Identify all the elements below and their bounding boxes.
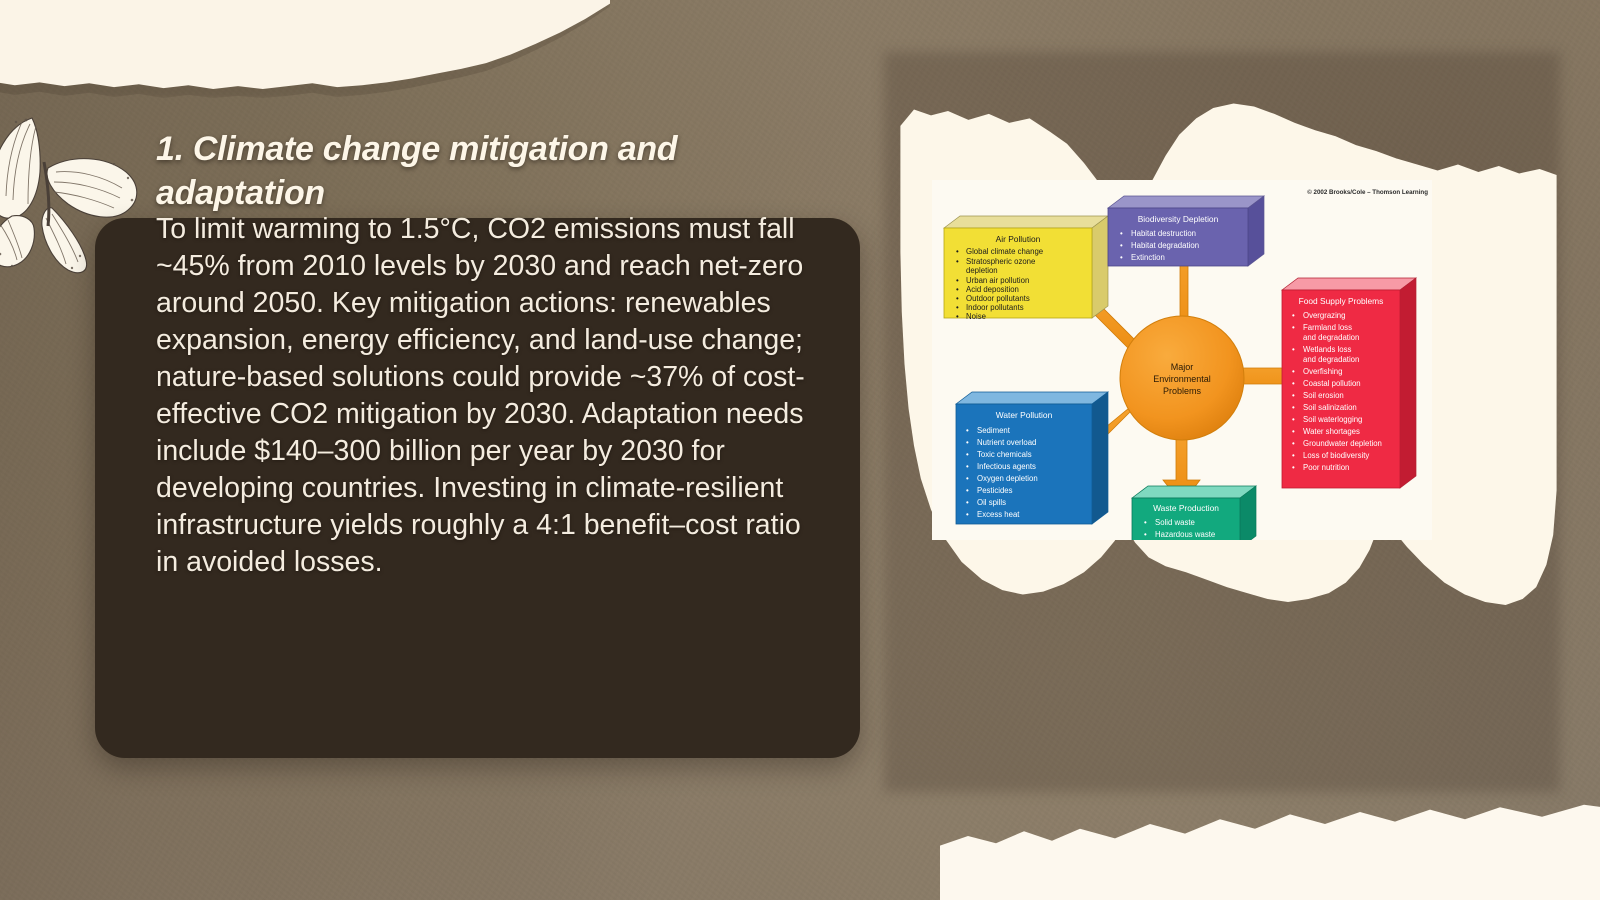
diagram-credit: © 2002 Brooks/Cole – Thomson Learning bbox=[1307, 189, 1428, 196]
water-item-0: Sediment bbox=[977, 426, 1011, 435]
svg-text:•: • bbox=[1120, 241, 1123, 250]
food-item-8: Water shortages bbox=[1303, 427, 1360, 436]
box-title-waste-production: Waste Production bbox=[1153, 503, 1219, 513]
water-item-4: Oxygen depletion bbox=[977, 474, 1038, 483]
svg-text:•: • bbox=[1120, 253, 1123, 262]
air-item-4: Outdoor pollutants bbox=[966, 294, 1030, 303]
water-item-3: Infectious agents bbox=[977, 462, 1036, 471]
svg-text:•: • bbox=[1292, 367, 1295, 376]
svg-text:•: • bbox=[1144, 518, 1147, 527]
diagram-box-biodiversity-depletion[interactable]: Biodiversity Depletion •Habitat destruct… bbox=[1108, 196, 1264, 266]
svg-text:•: • bbox=[1120, 229, 1123, 238]
svg-text:•: • bbox=[966, 426, 969, 435]
svg-text:depletion: depletion bbox=[966, 266, 998, 275]
food-item-11: Poor nutrition bbox=[1303, 463, 1349, 472]
water-item-6: Oil spills bbox=[977, 498, 1006, 507]
svg-text:•: • bbox=[956, 312, 959, 321]
center-line-0: Major bbox=[1171, 362, 1194, 372]
environmental-problems-diagram: Air Pollution •Global climate change •St… bbox=[932, 180, 1432, 540]
air-item-0: Global climate change bbox=[966, 247, 1043, 256]
svg-text:•: • bbox=[966, 510, 969, 519]
svg-text:•: • bbox=[1292, 391, 1295, 400]
svg-text:•: • bbox=[1292, 451, 1295, 460]
diagram-box-waste-production[interactable]: Waste Production •Solid waste •Hazardous… bbox=[1132, 486, 1256, 540]
svg-text:•: • bbox=[1292, 403, 1295, 412]
air-item-2: Urban air pollution bbox=[966, 276, 1029, 285]
page-title: 1. Climate change mitigation and adaptat… bbox=[156, 127, 846, 215]
svg-text:•: • bbox=[966, 450, 969, 459]
svg-text:and degradation: and degradation bbox=[1303, 355, 1359, 364]
air-item-5: Indoor pollutants bbox=[966, 303, 1024, 312]
svg-text:•: • bbox=[966, 438, 969, 447]
air-item-6: Noise bbox=[966, 312, 986, 321]
svg-text:•: • bbox=[1292, 427, 1295, 436]
diagram-center-node[interactable]: Major Environmental Problems bbox=[1120, 316, 1244, 440]
bio-item-1: Habitat degradation bbox=[1131, 241, 1199, 250]
svg-text:and degradation: and degradation bbox=[1303, 333, 1359, 342]
food-item-7: Soil waterlogging bbox=[1303, 415, 1362, 424]
food-item-5: Soil erosion bbox=[1303, 391, 1344, 400]
food-item-0: Overgrazing bbox=[1303, 311, 1345, 320]
svg-text:•: • bbox=[1292, 311, 1295, 320]
box-title-air-pollution: Air Pollution bbox=[996, 234, 1041, 244]
svg-text:•: • bbox=[1292, 415, 1295, 424]
svg-text:•: • bbox=[956, 247, 959, 256]
svg-text:•: • bbox=[956, 303, 959, 312]
diagram-box-food-supply-problems[interactable]: Food Supply Problems •Overgrazing •Farml… bbox=[1282, 278, 1416, 488]
waste-item-1: Hazardous waste bbox=[1155, 530, 1215, 539]
water-item-5: Pesticides bbox=[977, 486, 1013, 495]
food-item-10: Loss of biodiversity bbox=[1303, 451, 1369, 460]
bio-item-0: Habitat destruction bbox=[1131, 229, 1196, 238]
svg-text:•: • bbox=[956, 276, 959, 285]
food-item-4: Coastal pollution bbox=[1303, 379, 1361, 388]
svg-text:•: • bbox=[1144, 530, 1147, 539]
diagram-box-air-pollution[interactable]: Air Pollution •Global climate change •St… bbox=[944, 216, 1108, 321]
svg-text:•: • bbox=[956, 294, 959, 303]
center-line-1: Environmental bbox=[1153, 374, 1211, 384]
air-item-3: Acid deposition bbox=[966, 285, 1019, 294]
svg-text:•: • bbox=[1292, 379, 1295, 388]
water-item-1: Nutrient overload bbox=[977, 438, 1036, 447]
svg-text:•: • bbox=[956, 257, 959, 266]
svg-text:•: • bbox=[966, 474, 969, 483]
bio-item-2: Extinction bbox=[1131, 253, 1165, 262]
box-title-food-supply: Food Supply Problems bbox=[1299, 296, 1384, 306]
center-line-2: Problems bbox=[1163, 386, 1202, 396]
svg-text:Stratospheric ozone: Stratospheric ozone bbox=[966, 257, 1035, 266]
food-item-9: Groundwater depletion bbox=[1303, 439, 1382, 448]
diagram-box-water-pollution[interactable]: Water Pollution •Sediment •Nutrient over… bbox=[956, 392, 1108, 524]
slide-canvas: 1. Climate change mitigation and adaptat… bbox=[0, 0, 1600, 900]
svg-text:•: • bbox=[966, 486, 969, 495]
food-item-6: Soil salinization bbox=[1303, 403, 1357, 412]
svg-text:•: • bbox=[966, 498, 969, 507]
svg-text:•: • bbox=[1292, 345, 1295, 354]
body-paragraph: To limit warming to 1.5°C, CO2 emissions… bbox=[156, 211, 828, 581]
svg-text:Farmland loss: Farmland loss bbox=[1303, 323, 1352, 332]
food-item-3: Overfishing bbox=[1303, 367, 1342, 376]
water-item-2: Toxic chemicals bbox=[977, 450, 1032, 459]
svg-text:Wetlands loss: Wetlands loss bbox=[1303, 345, 1351, 354]
svg-text:•: • bbox=[1292, 439, 1295, 448]
waste-item-0: Solid waste bbox=[1155, 518, 1195, 527]
svg-text:•: • bbox=[1292, 463, 1295, 472]
box-title-biodiversity: Biodiversity Depletion bbox=[1138, 214, 1219, 224]
svg-text:•: • bbox=[966, 462, 969, 471]
box-title-water-pollution: Water Pollution bbox=[996, 410, 1053, 420]
svg-text:•: • bbox=[956, 285, 959, 294]
svg-text:•: • bbox=[1292, 323, 1295, 332]
water-item-7: Excess heat bbox=[977, 510, 1020, 519]
